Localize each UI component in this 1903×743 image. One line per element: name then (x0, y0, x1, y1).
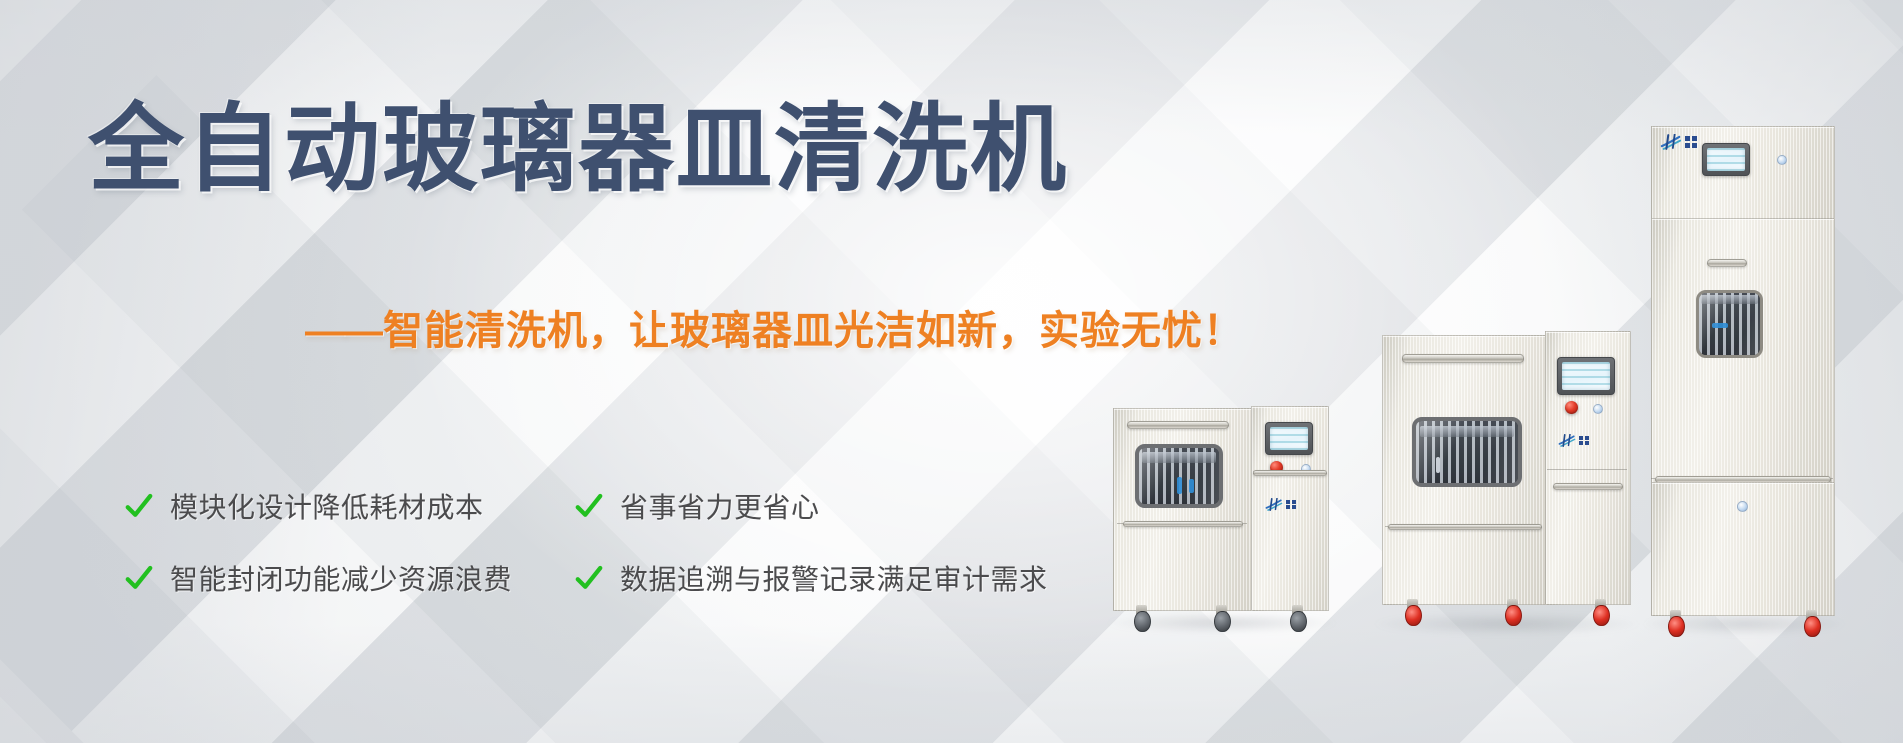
emergency-stop-button[interactable] (1565, 401, 1578, 414)
subtitle-dash: —— (305, 309, 381, 353)
banner-subtitle: ——智能清洗机，让玻璃器皿光洁如新，实验无忧！ (305, 298, 1244, 356)
chamber-viewing-window (1412, 417, 1522, 487)
brand-swoosh-icon (1558, 434, 1576, 447)
check-icon (124, 563, 154, 593)
brand-h-logo (1660, 134, 1697, 150)
page-title: 全自动玻璃器皿清洗机 (88, 98, 1068, 202)
caster-wheel (1504, 599, 1521, 625)
brand-grid-icon (1579, 436, 1589, 446)
caster-wheel (1667, 610, 1684, 636)
caster-wheel (1213, 605, 1230, 631)
feature-item: 智能封闭功能减少资源浪费 (124, 558, 574, 598)
feature-item: 模块化设计降低耗材成本 (124, 486, 574, 526)
power-indicator-light[interactable] (1777, 155, 1787, 165)
banner-copy: 全自动玻璃器皿清洗机 ——智能清洗机，让玻璃器皿光洁如新，实验无忧！ 模块化设计… (0, 0, 1150, 743)
caster-wheel (1592, 599, 1609, 625)
feature-label: 数据追溯与报警记录满足审计需求 (620, 558, 1048, 598)
product-freestanding-glassware-washer (1382, 335, 1632, 625)
feature-label: 模块化设计降低耗材成本 (170, 486, 484, 526)
touchscreen-hmi[interactable] (1557, 357, 1615, 395)
window-glare (1416, 421, 1518, 483)
chamber-viewing-window (1696, 290, 1763, 358)
check-icon (574, 491, 604, 521)
touchscreen-hmi[interactable] (1702, 143, 1750, 176)
window-glare (1139, 448, 1219, 504)
power-indicator-light[interactable] (1593, 404, 1603, 414)
feature-label: 省事省力更省心 (620, 486, 820, 526)
brand-h-logo (1558, 434, 1589, 447)
subtitle-text: 智能清洗机，让玻璃器皿光洁如新，实验无忧！ (383, 309, 1244, 353)
check-icon (574, 563, 604, 593)
check-icon (124, 491, 154, 521)
caster-wheel (1289, 605, 1306, 631)
caster-wheel (1404, 599, 1421, 625)
product-tall-column-glassware-washer (1651, 126, 1837, 626)
brand-grid-icon (1685, 136, 1697, 148)
door-handle-top (1402, 354, 1524, 363)
brand-h-logo (1265, 498, 1296, 511)
feature-list: 模块化设计降低耗材成本 省事省力更省心 智能封闭功能减少资源浪费 数据追溯与报警… (124, 470, 1124, 614)
service-panel-handle (1553, 483, 1623, 490)
brand-swoosh-icon (1265, 498, 1283, 511)
product-hero-banner: 全自动玻璃器皿清洗机 ——智能清洗机，让玻璃器皿光洁如新，实验无忧！ 模块化设计… (0, 0, 1903, 743)
lower-drawer-handle (1388, 524, 1542, 530)
touchscreen-hmi[interactable] (1265, 422, 1313, 455)
hmi-screen (1562, 362, 1610, 390)
door-handle-top (1707, 259, 1747, 267)
hmi-screen (1270, 427, 1308, 450)
feature-item: 数据追溯与报警记录满足审计需求 (574, 558, 1024, 598)
window-glare (1699, 293, 1760, 355)
hmi-screen (1707, 148, 1745, 171)
feature-label: 智能封闭功能减少资源浪费 (170, 558, 512, 598)
control-seam (1547, 469, 1627, 470)
brand-swoosh-icon (1660, 134, 1682, 150)
base-lock-indicator (1737, 501, 1748, 512)
feature-item: 省事省力更省心 (574, 486, 1024, 526)
caster-wheel (1803, 610, 1820, 636)
service-panel-handle (1253, 470, 1327, 476)
brand-grid-icon (1286, 500, 1296, 510)
